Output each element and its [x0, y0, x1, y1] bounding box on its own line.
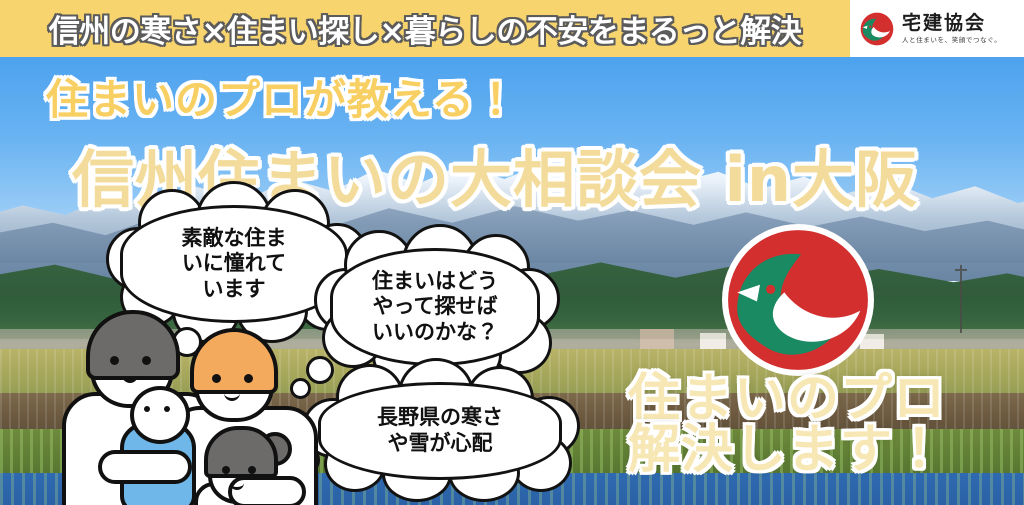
bubble-3-line-2: や雪が心配: [377, 431, 503, 457]
subtitle-text: 住まいのプロが教える！: [46, 66, 518, 127]
event-banner: 信州の寒さ×住まい探し×暮らしの不安をまるっと解決 宅建協会 人と住まいを、笑顔…: [0, 0, 1024, 505]
thought-dot: [290, 378, 311, 399]
thought-dot: [306, 356, 334, 384]
bottom-tagline: 住まいのプロ 解決します！: [628, 374, 946, 476]
baby-head: [130, 386, 190, 444]
bubble-3-line-1: 長野県の寒さ: [377, 405, 503, 431]
bubble-2-line-2: やって探せば: [372, 294, 498, 320]
logo-name-text: 宅建協会: [902, 14, 1001, 33]
speech-bubble-3: 長野県の寒さ や雪が心配: [318, 382, 562, 480]
top-bar-headline: 信州の寒さ×住まい探し×暮らしの不安をまるっと解決: [0, 0, 850, 57]
speech-bubble-2: 住まいはどう やって探せば いいのかな？: [330, 248, 540, 366]
bubble-2-line-1: 住まいはどう: [372, 269, 498, 295]
bubble-2-line-3: いいのかな？: [372, 320, 498, 346]
dove-mark-icon: [860, 12, 894, 46]
tagline-line-2: 解決します！: [628, 425, 946, 476]
father-arm: [98, 450, 192, 484]
bubble-1-line-2: いに憧れて: [182, 251, 287, 277]
speech-bubble-2-body: 住まいはどう やって探せば いいのかな？: [330, 248, 540, 366]
association-logo-box: 宅建協会 人と住まいを、笑顔でつなぐ。: [850, 0, 1024, 57]
logo-tagline-text: 人と住まいを、笑顔でつなぐ。: [902, 37, 1001, 44]
bubble-1-line-1: 素敵な住ま: [182, 226, 287, 252]
hato-circle-mark-icon: [722, 224, 874, 376]
speech-bubble-3-body: 長野県の寒さ や雪が心配: [318, 382, 562, 480]
bubble-1-line-3: います: [182, 277, 287, 303]
